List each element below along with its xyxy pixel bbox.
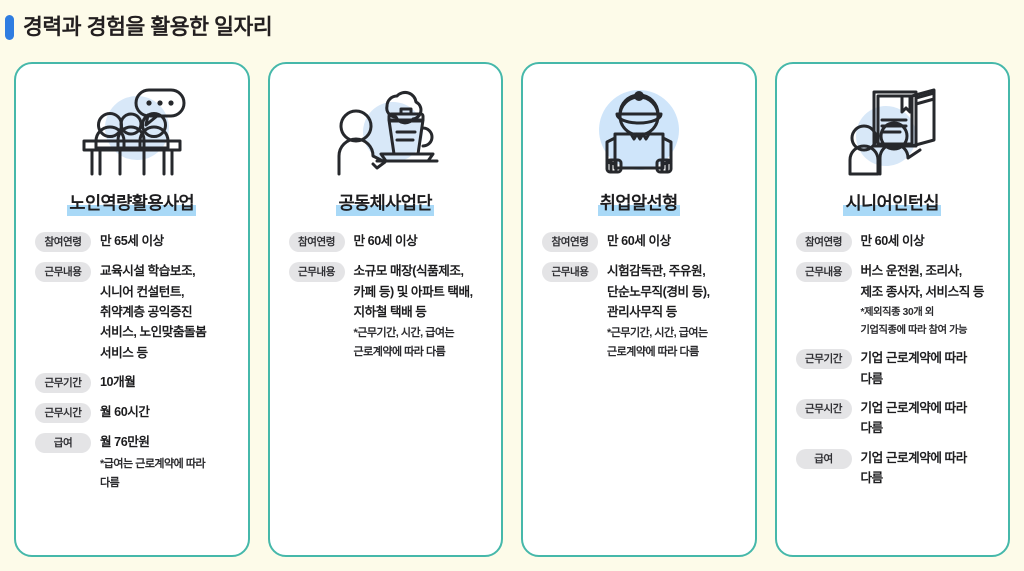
detail-label-pill: 참여연령 bbox=[542, 232, 598, 252]
card-title: 공동체사업단 bbox=[336, 194, 434, 215]
detail-note: *제외직종 30개 외 기업직종에 따라 참여 가능 bbox=[861, 304, 993, 339]
detail-label-pill: 참여연령 bbox=[796, 232, 852, 252]
detail-value: 만 60세 이상 bbox=[354, 231, 486, 251]
detail-value: 기업 근로계약에 따라 다름 bbox=[861, 348, 993, 389]
detail-note: *근무기간, 시간, 급여는 근로계약에 따라 다름 bbox=[354, 324, 486, 362]
detail-row-list: 참여연령만 60세 이상근무내용소규모 매장(식품제조, 카페 등) 및 아파트… bbox=[286, 231, 486, 362]
card-title: 시니어인턴십 bbox=[843, 194, 941, 215]
page-header: 경력과 경험을 활용한 일자리 bbox=[0, 0, 1024, 48]
card-title: 취업알선형 bbox=[598, 194, 680, 215]
two-people-with-open-book-icon bbox=[834, 84, 950, 180]
detail-body: 만 60세 이상 bbox=[861, 231, 993, 251]
person-with-blender-cafe-icon bbox=[327, 84, 443, 180]
page-title: 경력과 경험을 활용한 일자리 bbox=[23, 17, 272, 39]
detail-body: 월 76만원*급여는 근로계약에 따라 다름 bbox=[100, 432, 232, 492]
detail-body: 기업 근로계약에 따라 다름 bbox=[861, 348, 993, 389]
delivery-worker-with-box-icon bbox=[539, 82, 739, 182]
detail-row-list: 참여연령만 65세 이상근무내용교육시설 학습보조, 시니어 컨설턴트, 취약계… bbox=[32, 231, 232, 492]
detail-row: 근무내용소규모 매장(식품제조, 카페 등) 및 아파트 택배, 지하철 택배 … bbox=[289, 261, 486, 362]
detail-body: 기업 근로계약에 따라 다름 bbox=[861, 398, 993, 439]
card-title-wrap: 시니어인턴십 bbox=[793, 194, 993, 215]
detail-row: 참여연령만 60세 이상 bbox=[542, 231, 739, 252]
detail-label-pill: 근무시간 bbox=[35, 403, 91, 423]
detail-body: 기업 근로계약에 따라 다름 bbox=[861, 448, 993, 489]
card-title-wrap: 공동체사업단 bbox=[286, 194, 486, 215]
detail-row: 참여연령만 60세 이상 bbox=[796, 231, 993, 252]
card-title-text: 공동체사업단 bbox=[338, 193, 432, 213]
detail-body: 10개월 bbox=[100, 372, 232, 392]
card-title-wrap: 노인역량활용사업 bbox=[32, 194, 232, 215]
detail-value: 시험감독관, 주유원, 단순노무직(경비 등), 관리사무직 등 bbox=[607, 261, 739, 322]
detail-row: 근무시간기업 근로계약에 따라 다름 bbox=[796, 398, 993, 439]
detail-note: *근무기간, 시간, 급여는 근로계약에 따라 다름 bbox=[607, 324, 739, 362]
detail-row: 참여연령만 65세 이상 bbox=[35, 231, 232, 252]
card-title: 노인역량활용사업 bbox=[67, 194, 196, 215]
detail-row-list: 참여연령만 60세 이상근무내용시험감독관, 주유원, 단순노무직(경비 등),… bbox=[539, 231, 739, 362]
three-people-meeting-table-icon bbox=[74, 84, 190, 180]
detail-value: 기업 근로계약에 따라 다름 bbox=[861, 398, 993, 439]
card-title-text: 취업알선형 bbox=[600, 193, 678, 213]
two-people-with-open-book-icon bbox=[793, 82, 993, 182]
infographic-page: 경력과 경험을 활용한 일자리 노인역량활용사업참여연령만 65세 이상근무내용… bbox=[0, 0, 1024, 571]
detail-label-pill: 근무내용 bbox=[542, 262, 598, 282]
detail-label-pill: 참여연령 bbox=[35, 232, 91, 252]
person-with-blender-cafe-icon bbox=[286, 82, 486, 182]
delivery-worker-with-box-icon bbox=[581, 84, 697, 180]
detail-row: 급여기업 근로계약에 따라 다름 bbox=[796, 448, 993, 489]
detail-body: 소규모 매장(식품제조, 카페 등) 및 아파트 택배, 지하철 택배 등*근무… bbox=[354, 261, 486, 362]
program-card: 시니어인턴십참여연령만 60세 이상근무내용버스 운전원, 조리사, 제조 종사… bbox=[775, 62, 1011, 557]
detail-value: 버스 운전원, 조리사, 제조 종사자, 서비스직 등 bbox=[861, 261, 993, 302]
detail-note: *급여는 근로계약에 따라 다름 bbox=[100, 455, 232, 493]
detail-label-pill: 급여 bbox=[796, 449, 852, 469]
program-card: 노인역량활용사업참여연령만 65세 이상근무내용교육시설 학습보조, 시니어 컨… bbox=[14, 62, 250, 557]
detail-value: 기업 근로계약에 따라 다름 bbox=[861, 448, 993, 489]
detail-row: 근무시간월 60시간 bbox=[35, 402, 232, 423]
detail-label-pill: 근무내용 bbox=[289, 262, 345, 282]
detail-row: 참여연령만 60세 이상 bbox=[289, 231, 486, 252]
detail-row: 급여월 76만원*급여는 근로계약에 따라 다름 bbox=[35, 432, 232, 492]
detail-body: 교육시설 학습보조, 시니어 컨설턴트, 취약계층 공익증진 서비스, 노인맞춤… bbox=[100, 261, 232, 363]
detail-body: 버스 운전원, 조리사, 제조 종사자, 서비스직 등*제외직종 30개 외 기… bbox=[861, 261, 993, 339]
detail-row: 근무내용시험감독관, 주유원, 단순노무직(경비 등), 관리사무직 등*근무기… bbox=[542, 261, 739, 362]
detail-row: 근무기간기업 근로계약에 따라 다름 bbox=[796, 348, 993, 389]
detail-value: 10개월 bbox=[100, 372, 232, 392]
detail-row-list: 참여연령만 60세 이상근무내용버스 운전원, 조리사, 제조 종사자, 서비스… bbox=[793, 231, 993, 488]
detail-row: 근무내용교육시설 학습보조, 시니어 컨설턴트, 취약계층 공익증진 서비스, … bbox=[35, 261, 232, 363]
detail-value: 월 76만원 bbox=[100, 432, 232, 452]
detail-value: 만 65세 이상 bbox=[100, 231, 232, 251]
detail-value: 월 60시간 bbox=[100, 402, 232, 422]
detail-row: 근무내용버스 운전원, 조리사, 제조 종사자, 서비스직 등*제외직종 30개… bbox=[796, 261, 993, 339]
detail-body: 만 60세 이상 bbox=[607, 231, 739, 251]
detail-value: 만 60세 이상 bbox=[861, 231, 993, 251]
detail-value: 소규모 매장(식품제조, 카페 등) 및 아파트 택배, 지하철 택배 등 bbox=[354, 261, 486, 322]
header-accent-bar bbox=[5, 15, 14, 40]
detail-label-pill: 근무기간 bbox=[796, 349, 852, 369]
detail-value: 교육시설 학습보조, 시니어 컨설턴트, 취약계층 공익증진 서비스, 노인맞춤… bbox=[100, 261, 232, 363]
detail-label-pill: 근무내용 bbox=[796, 262, 852, 282]
detail-label-pill: 근무기간 bbox=[35, 373, 91, 393]
detail-value: 만 60세 이상 bbox=[607, 231, 739, 251]
detail-label-pill: 급여 bbox=[35, 433, 91, 453]
detail-body: 시험감독관, 주유원, 단순노무직(경비 등), 관리사무직 등*근무기간, 시… bbox=[607, 261, 739, 362]
detail-body: 만 60세 이상 bbox=[354, 231, 486, 251]
program-card: 공동체사업단참여연령만 60세 이상근무내용소규모 매장(식품제조, 카페 등)… bbox=[268, 62, 504, 557]
card-title-wrap: 취업알선형 bbox=[539, 194, 739, 215]
detail-body: 월 60시간 bbox=[100, 402, 232, 422]
three-people-meeting-table-icon bbox=[32, 82, 232, 182]
detail-row: 근무기간10개월 bbox=[35, 372, 232, 393]
detail-label-pill: 참여연령 bbox=[289, 232, 345, 252]
card-title-text: 시니어인턴십 bbox=[845, 193, 939, 213]
program-card: 취업알선형참여연령만 60세 이상근무내용시험감독관, 주유원, 단순노무직(경… bbox=[521, 62, 757, 557]
detail-label-pill: 근무시간 bbox=[796, 399, 852, 419]
program-card-list: 노인역량활용사업참여연령만 65세 이상근무내용교육시설 학습보조, 시니어 컨… bbox=[14, 62, 1010, 557]
detail-body: 만 65세 이상 bbox=[100, 231, 232, 251]
card-title-text: 노인역량활용사업 bbox=[69, 193, 194, 213]
detail-label-pill: 근무내용 bbox=[35, 262, 91, 282]
